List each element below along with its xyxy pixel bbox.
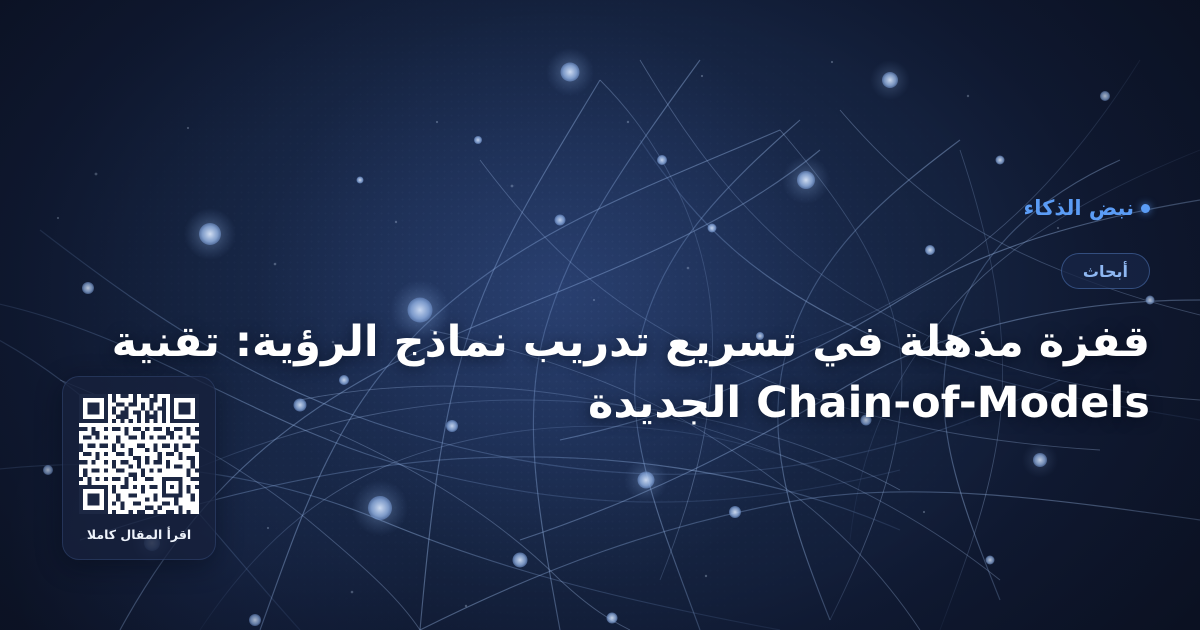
social-share-card: نبض الذكاء أبحاث قفزة مذهلة في تسريع تدر… (0, 0, 1200, 630)
qr-card-caption: اقرأ المقال كاملا (87, 527, 191, 542)
brand-lockup: نبض الذكاء (1024, 196, 1150, 220)
card-content: نبض الذكاء أبحاث قفزة مذهلة في تسريع تدر… (0, 0, 1200, 630)
bullet-dot-icon (1141, 204, 1150, 213)
category-badge[interactable]: أبحاث (1061, 253, 1150, 289)
qr-code-icon (79, 394, 199, 514)
brand-name: نبض الذكاء (1024, 196, 1134, 220)
qr-code-card[interactable]: اقرأ المقال كاملا (62, 376, 216, 560)
